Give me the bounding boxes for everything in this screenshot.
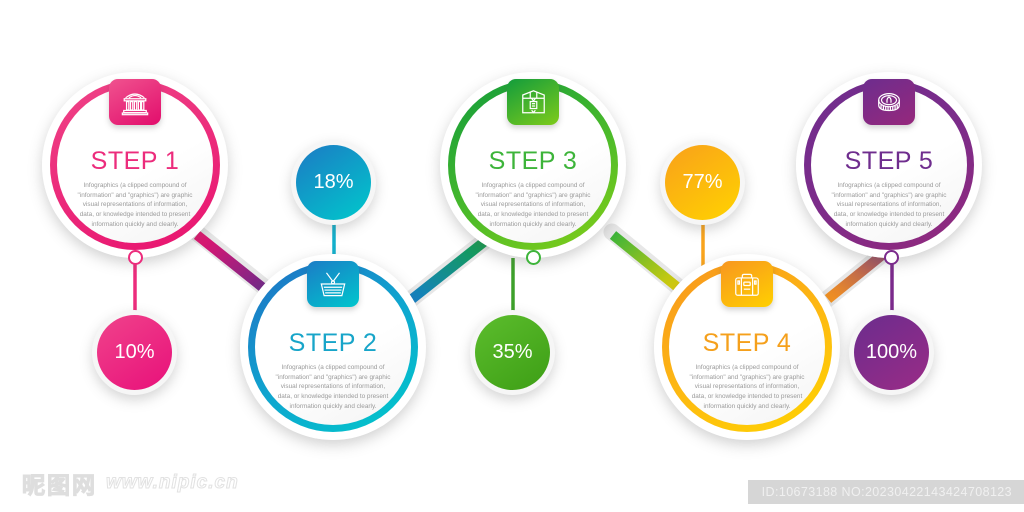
step-1-title: STEP 1 <box>91 149 180 174</box>
step-1-node <box>128 250 143 265</box>
step-2[interactable]: STEP 2 Infographics (a clipped compound … <box>240 254 426 440</box>
step-5-inner: STEP 5 Infographics (a clipped compound … <box>811 87 967 243</box>
step-3-title: STEP 3 <box>489 149 578 174</box>
infographic-canvas: STEP 1 Infographics (a clipped compound … <box>0 0 1024 512</box>
pct-100-label: 100% <box>866 341 917 364</box>
pct-18[interactable]: 18% <box>296 145 371 220</box>
package-box-icon <box>507 79 559 125</box>
step-2-inner: STEP 2 Infographics (a clipped compound … <box>255 269 411 425</box>
step-2-title: STEP 2 <box>289 331 378 356</box>
step-2-body: Infographics (a clipped compound of "inf… <box>275 363 390 412</box>
pct-77[interactable]: 77% <box>665 145 740 220</box>
step-1-body: Infographics (a clipped compound of "inf… <box>77 181 192 230</box>
image-id-bar: ID:10673188 NO:20230422143424708123 <box>748 480 1024 504</box>
briefcase-icon <box>721 261 773 307</box>
step-1[interactable]: STEP 1 Infographics (a clipped compound … <box>42 72 228 258</box>
watermark-url-text: www.nipic.cn <box>106 472 239 494</box>
pct-10-label: 10% <box>114 341 154 364</box>
step-1-inner: STEP 1 Infographics (a clipped compound … <box>57 87 213 243</box>
step-5-title: STEP 5 <box>845 149 934 174</box>
pct-35-label: 35% <box>492 341 532 364</box>
step-4-title: STEP 4 <box>703 331 792 356</box>
step-3[interactable]: STEP 3 Infographics (a clipped compound … <box>440 72 626 258</box>
pct-100[interactable]: 100% <box>854 315 929 390</box>
watermark-cn-text: 昵图网 <box>22 466 97 500</box>
bank-building-icon <box>109 79 161 125</box>
pct-35[interactable]: 35% <box>475 315 550 390</box>
step-3-inner: STEP 3 Infographics (a clipped compound … <box>455 87 611 243</box>
step-5-node <box>884 250 899 265</box>
step-5[interactable]: STEP 5 Infographics (a clipped compound … <box>796 72 982 258</box>
step-4-body: Infographics (a clipped compound of "inf… <box>689 363 804 412</box>
pct-10[interactable]: 10% <box>97 315 172 390</box>
shopping-basket-icon <box>307 261 359 307</box>
step-4[interactable]: STEP 4 Infographics (a clipped compound … <box>654 254 840 440</box>
coin-stack-icon <box>863 79 915 125</box>
step-4-inner: STEP 4 Infographics (a clipped compound … <box>669 269 825 425</box>
pct-77-label: 77% <box>682 171 722 194</box>
connector-2-3 <box>412 234 494 299</box>
watermark: 昵图网 www.nipic.cn <box>22 466 239 500</box>
step-5-ring: STEP 5 Infographics (a clipped compound … <box>804 80 974 250</box>
step-3-ring: STEP 3 Infographics (a clipped compound … <box>448 80 618 250</box>
step-3-body: Infographics (a clipped compound of "inf… <box>475 181 590 230</box>
step-5-body: Infographics (a clipped compound of "inf… <box>831 181 946 230</box>
step-4-ring: STEP 4 Infographics (a clipped compound … <box>662 262 832 432</box>
step-3-node <box>526 250 541 265</box>
step-1-ring: STEP 1 Infographics (a clipped compound … <box>50 80 220 250</box>
pct-18-label: 18% <box>313 171 353 194</box>
step-2-ring: STEP 2 Infographics (a clipped compound … <box>248 262 418 432</box>
